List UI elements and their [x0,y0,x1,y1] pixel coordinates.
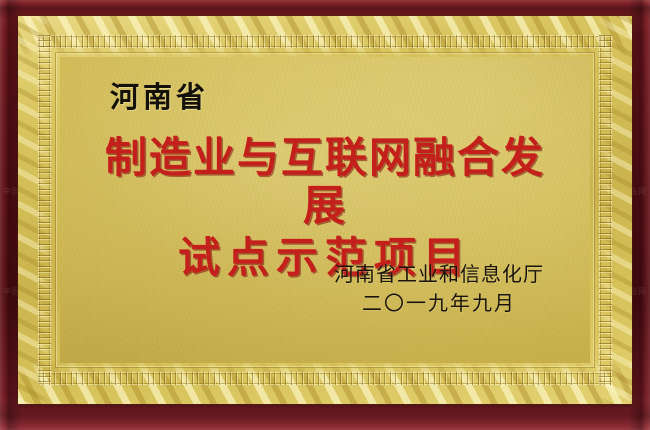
issue-date: 二〇一九年九月 [334,290,544,317]
province-label: 河南省 [110,83,564,112]
award-title-line-1: 制造业与互联网融合发展 [86,134,564,230]
greek-key-border-right [599,35,612,385]
award-title: 制造业与互联网融合发展 试点示范项目 [86,134,564,282]
inscription-field: 河南省 制造业与互联网融合发展 试点示范项目 河南省工业和信息化厅 二〇一九年九… [60,57,590,363]
gold-bevel-plate: 河南省 制造业与互联网融合发展 试点示范项目 河南省工业和信息化厅 二〇一九年九… [18,16,632,404]
signature-block: 河南省工业和信息化厅 二〇一九年九月 [334,261,544,317]
award-plaque: 中国制造网 中国制造网 中国制造网 中国制造网 河南省 制造业与互联网融合发展 … [0,0,650,430]
greek-key-border-top [38,35,612,48]
greek-key-border-bottom [38,372,612,385]
inscription-content: 河南省 制造业与互联网融合发展 试点示范项目 河南省工业和信息化厅 二〇一九年九… [60,57,590,363]
greek-key-border-left [38,35,51,385]
issuing-authority: 河南省工业和信息化厅 [334,261,544,288]
